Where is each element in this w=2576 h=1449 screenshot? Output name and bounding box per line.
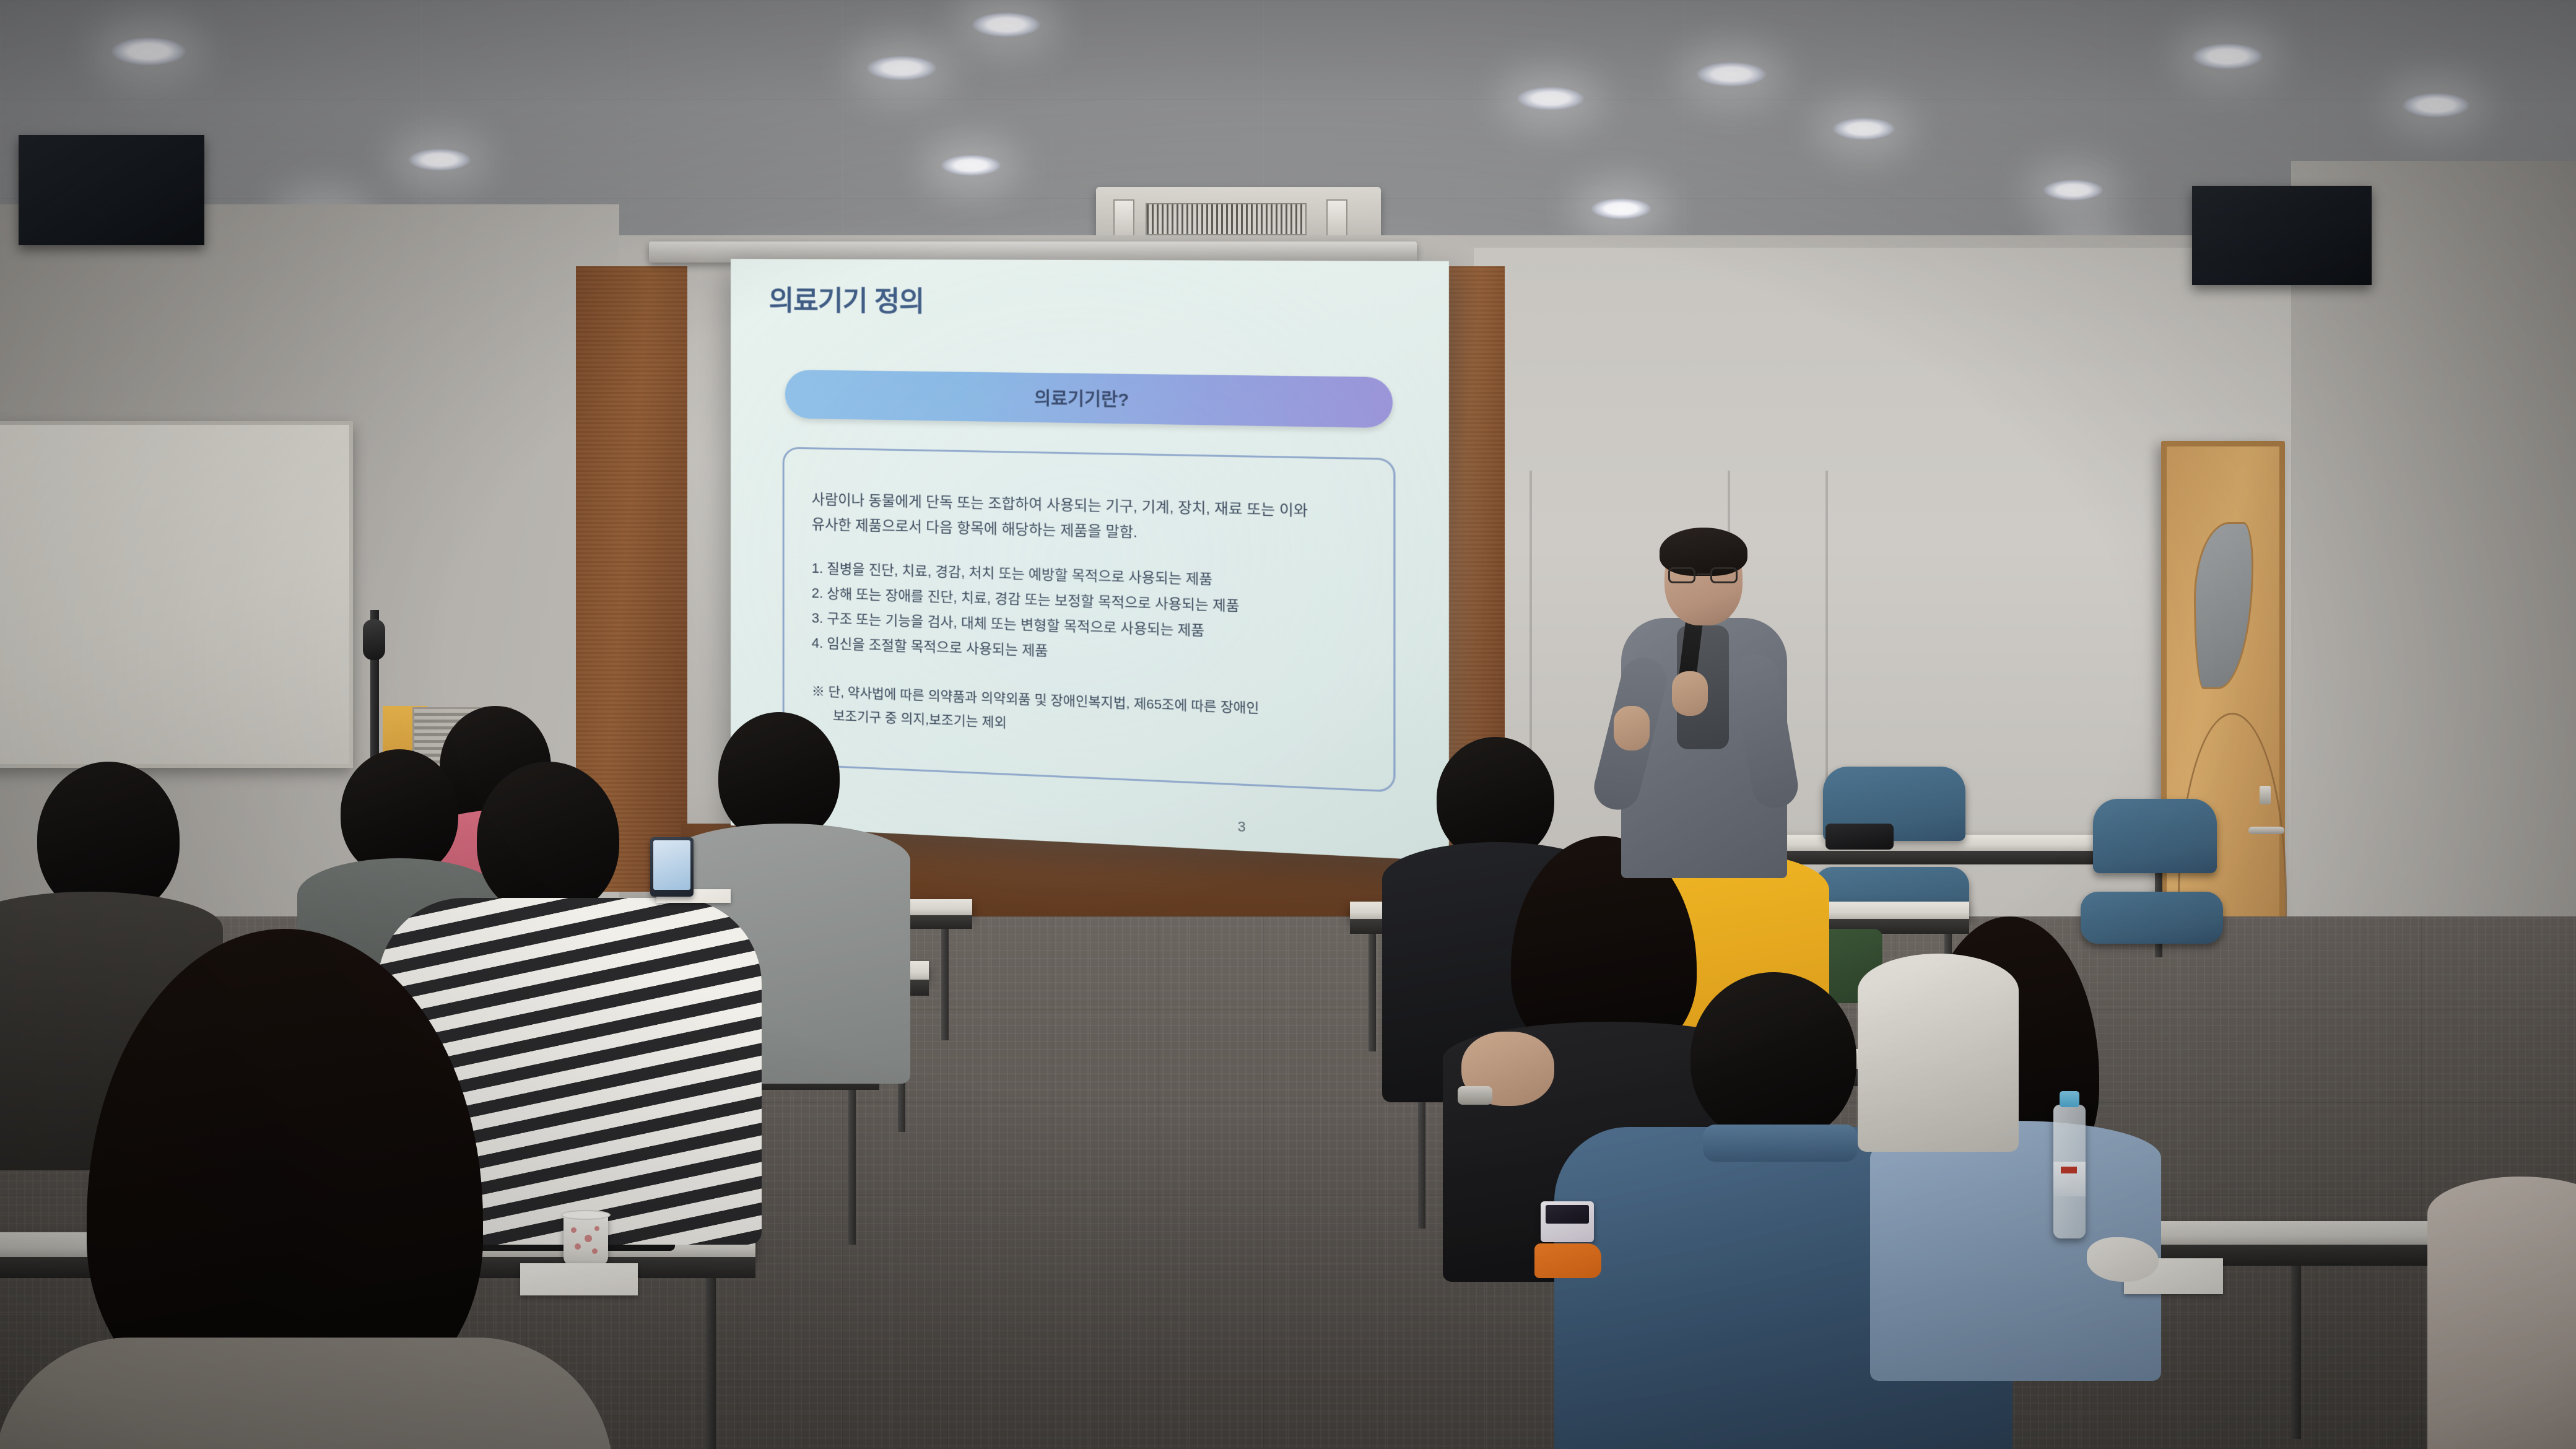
wall-speaker-left	[19, 135, 204, 245]
desk-leg	[706, 1278, 716, 1449]
slide-pill-label: 의료기기란?	[1034, 385, 1129, 411]
chair-right-row-seat[interactable]	[2081, 892, 2223, 944]
cup-dot	[571, 1227, 577, 1233]
downlight	[1697, 62, 1766, 87]
desk-object-dark	[1825, 824, 1894, 850]
head	[718, 712, 840, 842]
phone-in-stand[interactable]	[1541, 1201, 1594, 1242]
presenter-hand-gesture	[1614, 706, 1650, 751]
microphone-icon	[363, 619, 385, 660]
cup-rim	[561, 1210, 611, 1220]
ac-grill	[1146, 203, 1307, 235]
downlight	[1517, 87, 1584, 110]
water-bottle	[2053, 1105, 2086, 1238]
bottle-label	[2053, 1162, 2086, 1196]
phone-screen	[1546, 1205, 1589, 1224]
cup-dot	[585, 1235, 592, 1242]
downlight	[2403, 93, 2469, 118]
tablet-screen	[653, 840, 690, 890]
downlight	[867, 56, 936, 80]
door-handle[interactable]	[2248, 827, 2284, 834]
slide-title: 의료기기 정의	[769, 287, 1411, 320]
cabinet-seam	[1825, 471, 1828, 817]
slide-item-list: 1. 질병을 진단, 치료, 경감, 처치 또는 예방할 목적으로 사용되는 제…	[812, 555, 1369, 675]
downlight	[111, 37, 186, 66]
head	[1690, 972, 1856, 1143]
head	[477, 762, 619, 916]
desk-leg	[1418, 1086, 1425, 1229]
downlight	[941, 155, 1001, 176]
orange-cloth	[1534, 1243, 1601, 1278]
door-lock-icon	[2260, 786, 2271, 804]
downlight	[2192, 43, 2263, 69]
paper-sheet-left	[520, 1263, 638, 1295]
wristwatch	[1458, 1086, 1492, 1105]
slide-body-box: 사람이나 동물에게 단독 또는 조합하여 사용되는 기구, 기계, 장치, 재료…	[783, 447, 1396, 793]
whiteboard	[0, 421, 353, 768]
presenter	[1610, 533, 1796, 879]
downlight	[1591, 198, 1651, 219]
slide-header-pill: 의료기기란?	[785, 370, 1393, 428]
cup-dot	[575, 1243, 581, 1250]
torso	[2427, 1177, 2576, 1449]
torso	[0, 1338, 613, 1449]
paper-cup	[563, 1214, 608, 1266]
torso	[1858, 954, 2019, 1152]
downlight	[972, 12, 1040, 37]
cup-dot	[594, 1226, 599, 1231]
ac-vent	[1326, 199, 1347, 238]
chair-right-row[interactable]	[2093, 799, 2217, 873]
desk-leg	[2291, 1266, 2301, 1439]
desk-leg	[848, 1090, 856, 1245]
glasses-icon	[1667, 567, 1739, 583]
ac-vent	[1113, 199, 1134, 238]
denim-collar	[1703, 1125, 1858, 1162]
slide-page-number: 3	[1238, 819, 1246, 836]
bottle-cap	[2060, 1091, 2079, 1107]
door[interactable]	[2161, 441, 2285, 966]
downlight	[1833, 118, 1895, 140]
downlight	[2043, 180, 2103, 201]
downlight	[409, 149, 471, 171]
lecture-room-photo: 의료기기 정의 의료기기란? 사람이나 동물에게 단독 또는 조합하여 사용되는…	[0, 0, 2576, 1449]
door-glass-panel	[2194, 522, 2253, 689]
cup-dot	[592, 1248, 598, 1254]
crumpled-tissue	[2087, 1237, 2159, 1282]
presenter-hand-mic	[1672, 671, 1708, 716]
desk-leg	[941, 929, 949, 1040]
tablet-left[interactable]	[650, 837, 694, 897]
wall-speaker-right	[2192, 186, 2372, 285]
desk-leg	[1368, 934, 1376, 1051]
